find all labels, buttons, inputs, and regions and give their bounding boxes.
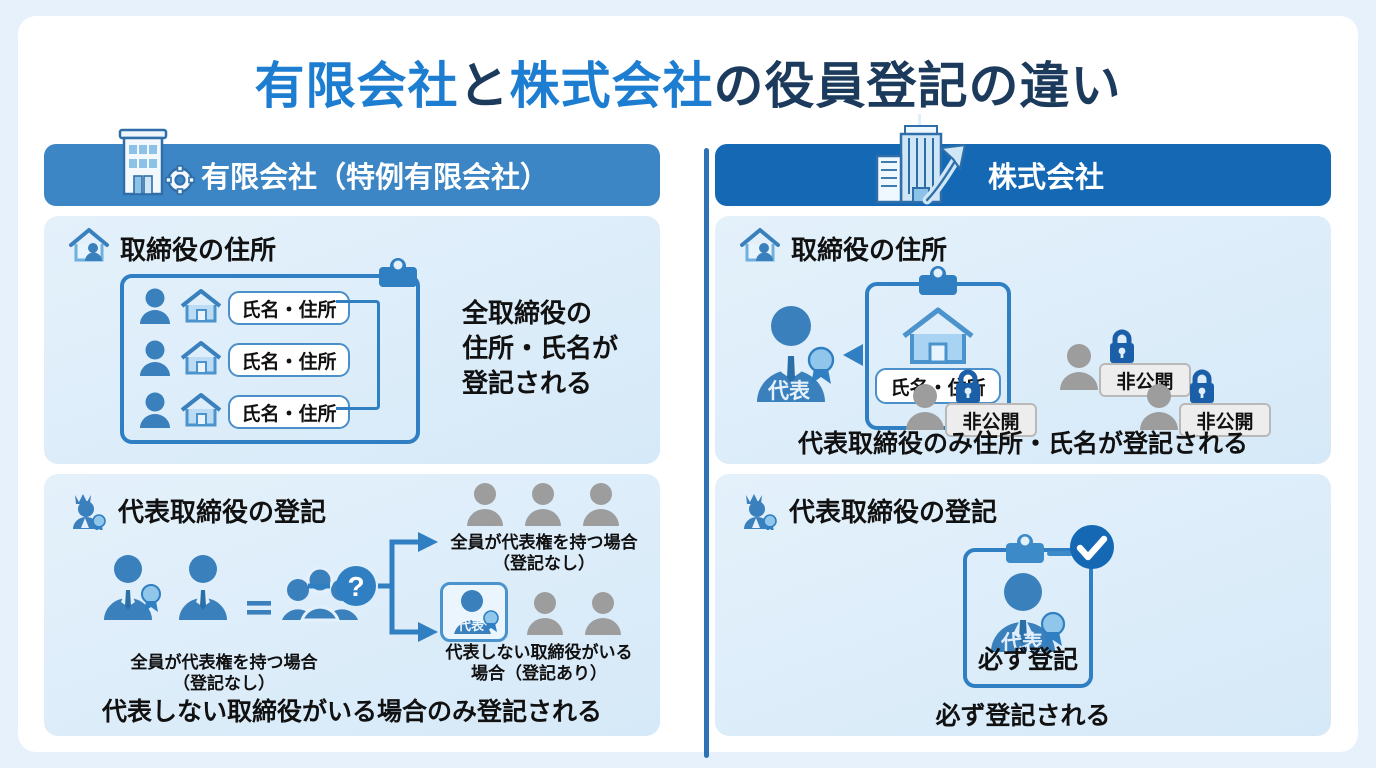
person-icon	[136, 338, 174, 383]
left-card1-note: 全取締役の 住所・氏名が 登記される	[462, 296, 618, 400]
businessman-icon	[172, 552, 236, 627]
left-header-bar: 有限会社（特例有限会社）	[44, 144, 660, 206]
branch-bottom-caption-1: 代表しない取締役がいる	[414, 642, 660, 663]
highlighted-rep-box: 代表	[440, 582, 508, 642]
person-gray-icon	[522, 589, 568, 642]
skyscraper-arrow-icon	[865, 112, 975, 214]
white-panel: 有限会社と株式会社の役員登記の違い	[18, 16, 1358, 752]
clipboard-icon	[914, 262, 962, 303]
infographic-page: 有限会社と株式会社の役員登記の違い	[0, 0, 1376, 768]
rep-badge-text: 代表	[457, 618, 485, 633]
check-circle-icon	[1067, 522, 1117, 577]
branch-bottom-people: 代表	[440, 582, 626, 642]
branch-top-caption: 全員が代表権を持つ場合 （登記なし）	[424, 532, 660, 575]
crown-person-ribbon-icon	[66, 484, 110, 537]
right-header-bar: 株式会社	[715, 144, 1331, 206]
house-icon	[899, 304, 977, 373]
title-segment-2: と	[459, 58, 510, 114]
pill-name-address: 氏名・住所	[228, 343, 350, 377]
left-header-label: 有限会社（特例有限会社）	[201, 154, 549, 196]
note-line-1: 全取締役の	[462, 296, 618, 331]
person-gray-icon	[462, 480, 508, 533]
left-card2-summary: 代表しない取締役がいる場合のみ登記される	[44, 692, 660, 728]
clipboard-icon	[374, 254, 422, 295]
rows-bracket	[336, 300, 380, 410]
rep-label-text: 代表	[767, 380, 811, 403]
person-icon	[136, 390, 174, 435]
person-gray-icon	[520, 480, 566, 533]
house-icon	[178, 390, 224, 435]
left-card1-heading: 取締役の住所	[66, 224, 276, 273]
person-icon	[136, 286, 174, 331]
rep-businessman-icon: 代表	[749, 302, 841, 409]
house-icon	[178, 286, 224, 331]
building-gear-icon	[106, 120, 198, 214]
page-title: 有限会社と株式会社の役員登記の違い	[18, 46, 1358, 118]
person-gray-icon	[580, 589, 626, 642]
left-directors-rows: 氏名・住所 氏名・住所	[136, 284, 350, 436]
branch-top-people	[462, 480, 624, 533]
clipboard-icon	[1001, 530, 1049, 571]
branch-top-caption-2: （登記なし）	[424, 553, 660, 574]
title-segment-3: 株式会社	[510, 58, 714, 114]
right-card2-heading: 代表取締役の登記	[737, 484, 997, 537]
left-card2-heading: 代表取締役の登記	[66, 484, 326, 537]
house-person-icon	[737, 224, 783, 273]
note-line-3: 登記される	[462, 366, 618, 401]
right-column: 株式会社 取締役の住所	[715, 144, 1331, 736]
right-header-label: 株式会社	[988, 154, 1104, 196]
lock-icon	[1185, 367, 1219, 410]
equals-sign	[244, 592, 274, 627]
person-gray-icon	[1055, 342, 1103, 397]
person-gray-icon	[578, 480, 624, 533]
branch-top-caption-1: 全員が代表権を持つ場合	[424, 532, 660, 553]
lock-icon	[951, 367, 985, 410]
director-row-1: 氏名・住所	[136, 284, 350, 332]
left-card-rep-registration: 代表取締役の登記	[44, 474, 660, 736]
column-divider	[704, 148, 709, 758]
title-segment-4: の役員登記の違い	[714, 58, 1122, 114]
director-row-2: 氏名・住所	[136, 336, 350, 384]
pill-name-address: 氏名・住所	[228, 395, 350, 429]
right-card2-summary: 必ず登記される	[715, 696, 1331, 732]
left-card1-heading-label: 取締役の住所	[120, 230, 276, 267]
director-row-3: 氏名・住所	[136, 388, 350, 436]
title-segment-1: 有限会社	[255, 58, 459, 114]
pill-name-address: 氏名・住所	[228, 291, 350, 325]
house-icon	[178, 338, 224, 383]
right-card1-summary: 代表取締役のみ住所・氏名が登記される	[715, 424, 1331, 460]
businessman-ribbon-icon	[98, 552, 166, 627]
left-card-directors-address: 取締役の住所	[44, 216, 660, 464]
note-line-2: 住所・氏名が	[462, 331, 618, 366]
right-card-rep-registration: 代表取締役の登記	[715, 474, 1331, 736]
crown-person-ribbon-icon	[737, 484, 781, 537]
left-column: 有限会社（特例有限会社） 取締役の住所	[44, 144, 660, 736]
lock-icon	[1105, 327, 1139, 370]
left-card2-heading-label: 代表取締役の登記	[118, 492, 326, 529]
house-person-icon	[66, 224, 112, 273]
right-card-directors-address: 取締役の住所 代表	[715, 216, 1331, 464]
must-register-label: 必ず登記	[963, 640, 1093, 676]
right-card2-heading-label: 代表取締役の登記	[789, 492, 997, 529]
branch-bottom-caption-2: 場合（登記あり）	[414, 663, 660, 684]
pointer-triangle	[841, 342, 865, 373]
branch-bottom-caption: 代表しない取締役がいる 場合（登記あり）	[414, 642, 660, 685]
